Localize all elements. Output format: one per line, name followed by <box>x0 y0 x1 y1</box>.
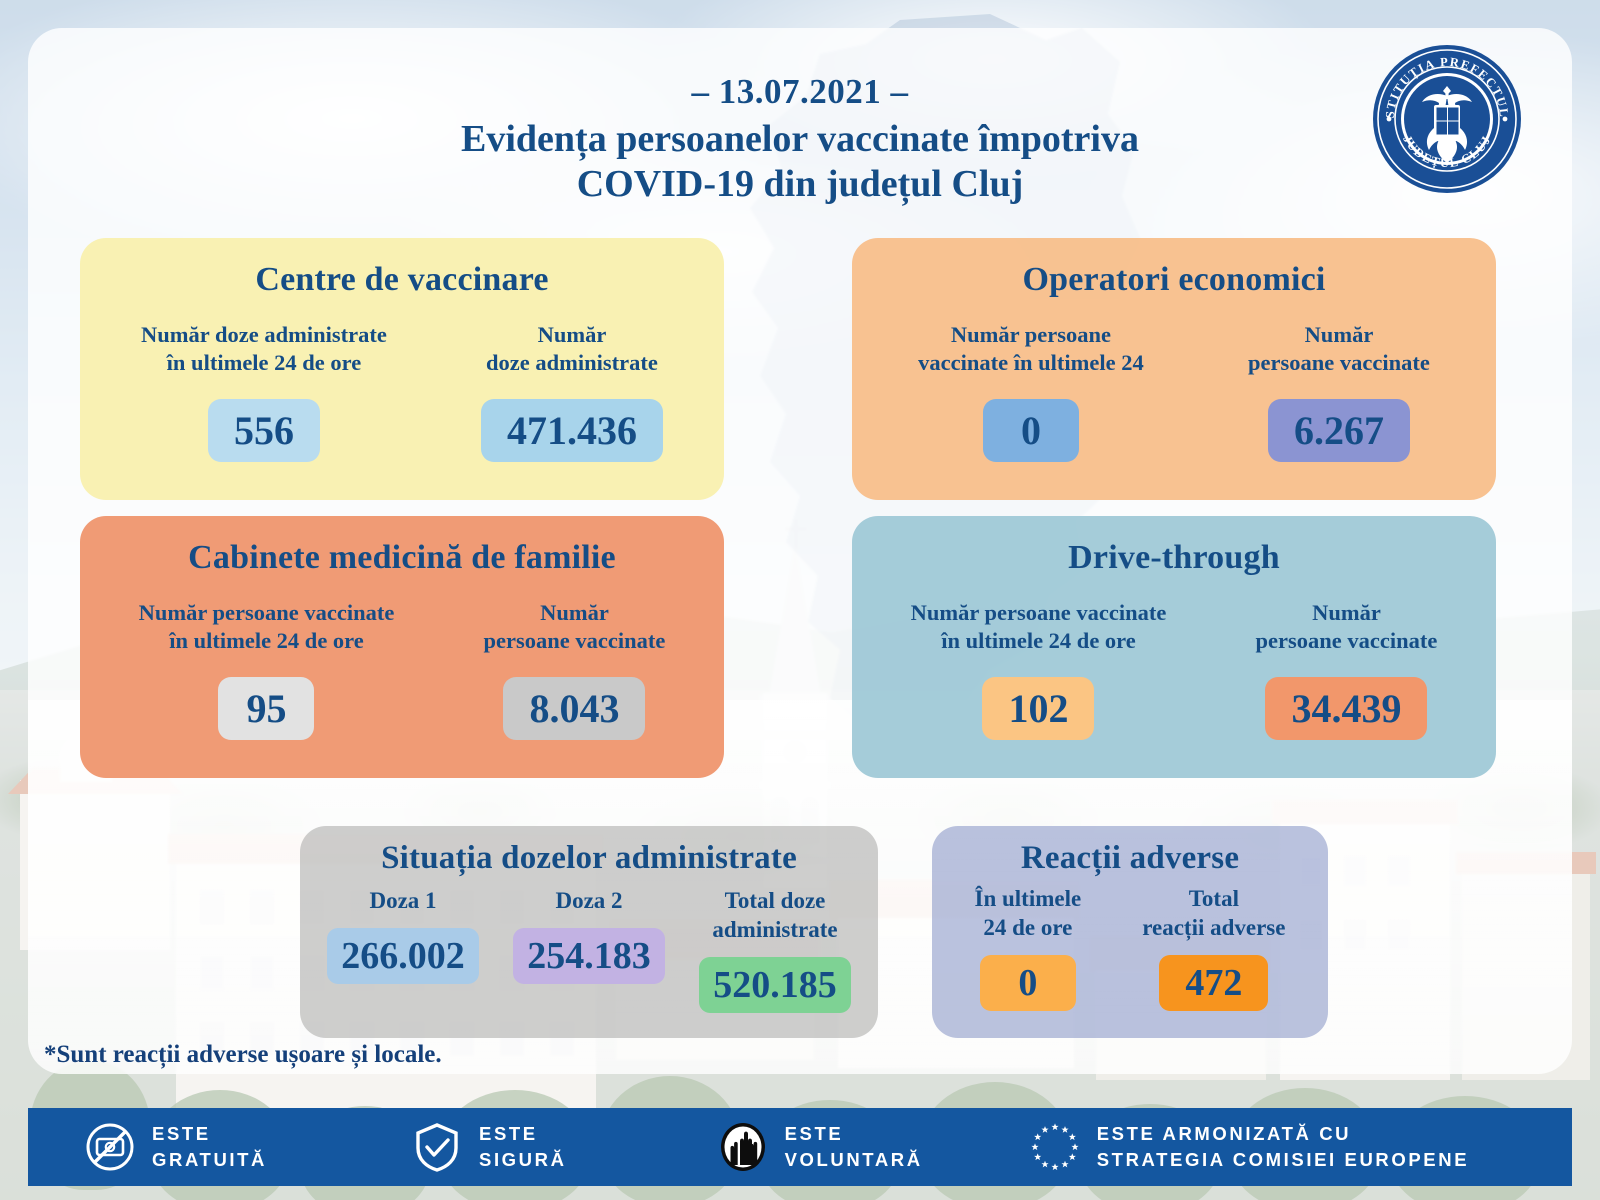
metric-label: Număr persoane vaccinate <box>1256 599 1438 655</box>
metric-pill-row: 102 <box>911 677 1167 740</box>
metric-label: În ultimele 24 de ore <box>975 885 1082 943</box>
metric-value: 254.183 <box>513 928 665 984</box>
metric-value: 471.436 <box>481 399 663 462</box>
metric-label: Număr doze administrate în ultimele 24 d… <box>141 321 387 377</box>
footer-item-sigura: ESTE SIGURĂ <box>411 1121 567 1173</box>
metric-column: Număr persoane vaccinate în ultimele 24 … <box>918 321 1144 462</box>
card-centre-de-vaccinare: Centre de vaccinare Număr doze administr… <box>80 238 724 500</box>
footnote-text: *Sunt reacții adverse ușoare și locale. <box>44 1041 442 1069</box>
metric-label: Total doze administrate <box>699 887 851 945</box>
card-title: Operatori economici <box>852 238 1496 299</box>
metric-pill-row: 95 <box>139 677 395 740</box>
metric-pill-row: 8.043 <box>484 677 666 740</box>
footer-item-strategie-ue: ESTE ARMONIZATĂ CU STRATEGIA COMISIEI EU… <box>1029 1121 1469 1173</box>
metric-value: 95 <box>218 677 314 740</box>
metric-column: Total reacții adverse 472 <box>1142 885 1285 1011</box>
metric-value: 0 <box>983 399 1079 462</box>
metric-pill-row: 520.185 <box>699 957 851 1013</box>
raised-hands-icon <box>717 1121 769 1173</box>
metric-column: Număr persoane vaccinate în ultimele 24 … <box>911 599 1167 740</box>
metric-column: Număr persoane vaccinate 34.439 <box>1256 599 1438 740</box>
metric-value: 266.002 <box>327 928 479 984</box>
metric-value: 34.439 <box>1265 677 1427 740</box>
page-title: Evidența persoanelor vaccinate împotriva… <box>0 117 1600 207</box>
metric-label: Doza 2 <box>513 887 665 916</box>
metric-column: Număr persoane vaccinate 6.267 <box>1248 321 1430 462</box>
footer-item-label: ESTE VOLUNTARĂ <box>785 1121 923 1172</box>
card-reactii-adverse: Reacții adverse În ultimele 24 de ore 0 … <box>932 826 1328 1038</box>
card-columns: În ultimele 24 de ore 0 Total reacții ad… <box>932 885 1328 1011</box>
card-columns: Doza 1 266.002 Doza 2 254.183 Total doze… <box>300 887 878 1013</box>
metric-value: 556 <box>208 399 320 462</box>
card-columns: Număr persoane vaccinate în ultimele 24 … <box>852 599 1496 740</box>
metric-pill-row: 472 <box>1142 955 1285 1011</box>
metric-column: Număr doze administrate în ultimele 24 d… <box>141 321 387 462</box>
metric-label: Număr doze administrate <box>481 321 663 377</box>
metric-column: În ultimele 24 de ore 0 <box>975 885 1082 1011</box>
metric-column: Număr persoane vaccinate în ultimele 24 … <box>139 599 395 740</box>
metric-pill-row: 254.183 <box>513 928 665 984</box>
metric-value: 0 <box>980 955 1076 1011</box>
eu-stars-icon <box>1029 1121 1081 1173</box>
page-title-line2: COVID-19 din județul Cluj <box>0 162 1600 207</box>
metric-value: 102 <box>982 677 1094 740</box>
page-header: – 13.07.2021 – Evidența persoanelor vacc… <box>0 72 1600 207</box>
card-operatori-economici: Operatori economici Număr persoane vacci… <box>852 238 1496 500</box>
metric-label: Număr persoane vaccinate <box>484 599 666 655</box>
card-columns: Număr doze administrate în ultimele 24 d… <box>80 321 724 462</box>
metric-column: Total doze administrate 520.185 <box>699 887 851 1013</box>
card-title: Reacții adverse <box>932 826 1328 877</box>
footer-item-label: ESTE GRATUITĂ <box>152 1121 267 1172</box>
no-money-icon <box>84 1121 136 1173</box>
card-columns: Număr persoane vaccinate în ultimele 24 … <box>80 599 724 740</box>
metric-pill-row: 471.436 <box>481 399 663 462</box>
metric-value: 472 <box>1159 955 1268 1011</box>
metric-label: Număr persoane vaccinate în ultimele 24 … <box>139 599 395 655</box>
card-title: Cabinete medicină de familie <box>80 516 724 577</box>
metric-pill-row: 0 <box>975 955 1082 1011</box>
shield-check-icon <box>411 1121 463 1173</box>
footer-item-gratuita: ESTE GRATUITĂ <box>84 1121 267 1173</box>
card-columns: Număr persoane vaccinate în ultimele 24 … <box>852 321 1496 462</box>
metric-pill-row: 556 <box>141 399 387 462</box>
metric-pill-row: 6.267 <box>1248 399 1430 462</box>
metric-column: Număr persoane vaccinate 8.043 <box>484 599 666 740</box>
metric-label: Total reacții adverse <box>1142 885 1285 943</box>
metric-column: Număr doze administrate 471.436 <box>481 321 663 462</box>
footer-bar: ESTE GRATUITĂ ESTE SIGURĂ ESTE VOLUNTARĂ <box>28 1108 1572 1186</box>
metric-label: Număr persoane vaccinate <box>1248 321 1430 377</box>
metric-column: Doza 2 254.183 <box>513 887 665 984</box>
report-date: – 13.07.2021 – <box>0 72 1600 112</box>
metric-column: Doza 1 266.002 <box>327 887 479 984</box>
card-cabinete-medicina-de-familie: Cabinete medicină de familie Număr perso… <box>80 516 724 778</box>
prefecture-seal-logo: INSTITUȚIA PREFECTULUI JUDEȚUL CLUJ <box>1372 44 1522 194</box>
card-title: Drive-through <box>852 516 1496 577</box>
footer-item-label: ESTE SIGURĂ <box>479 1121 567 1172</box>
metric-label: Doza 1 <box>327 887 479 916</box>
metric-label: Număr persoane vaccinate în ultimele 24 <box>918 321 1144 377</box>
metric-pill-row: 266.002 <box>327 928 479 984</box>
footer-item-label: ESTE ARMONIZATĂ CU STRATEGIA COMISIEI EU… <box>1097 1121 1469 1172</box>
metric-pill-row: 34.439 <box>1256 677 1438 740</box>
card-situatia-dozelor-administrate: Situația dozelor administrate Doza 1 266… <box>300 826 878 1038</box>
footer-item-voluntara: ESTE VOLUNTARĂ <box>717 1121 923 1173</box>
metric-value: 6.267 <box>1268 399 1410 462</box>
card-title: Situația dozelor administrate <box>300 826 878 877</box>
card-drive-through: Drive-through Număr persoane vaccinate î… <box>852 516 1496 778</box>
metric-value: 520.185 <box>699 957 851 1013</box>
metric-label: Număr persoane vaccinate în ultimele 24 … <box>911 599 1167 655</box>
page-title-line1: Evidența persoanelor vaccinate împotriva <box>0 117 1600 162</box>
metric-pill-row: 0 <box>918 399 1144 462</box>
metric-value: 8.043 <box>503 677 645 740</box>
card-title: Centre de vaccinare <box>80 238 724 299</box>
